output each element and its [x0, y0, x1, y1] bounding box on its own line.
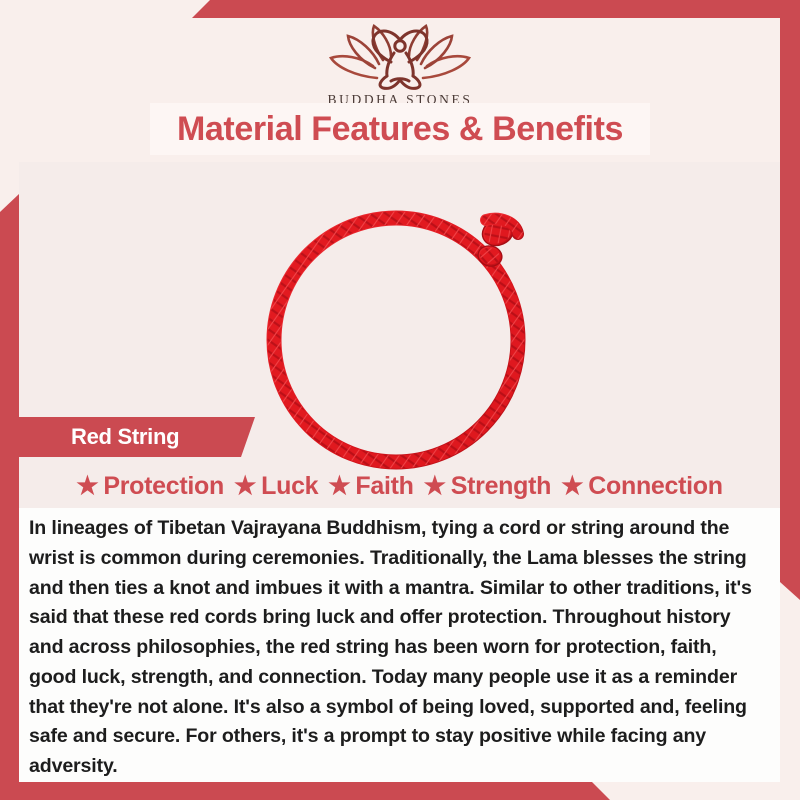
product-name: Red String	[71, 424, 179, 450]
star-icon: ★	[234, 474, 256, 499]
benefit-item-protection: ★ Protection	[76, 472, 224, 501]
star-icon: ★	[424, 474, 446, 499]
page-title: Material Features & Benefits	[177, 110, 623, 149]
benefit-label: Protection	[103, 472, 224, 501]
brand-header: BUDDHA STONES	[0, 18, 800, 108]
decor-bar-left	[0, 0, 19, 800]
product-name-banner: Red String	[19, 417, 255, 457]
lotus-meditation-icon	[311, 24, 489, 90]
benefit-label: Faith	[355, 472, 413, 501]
benefit-label: Luck	[261, 472, 318, 501]
benefit-item-strength: ★ Strength	[424, 472, 552, 501]
product-infographic-poster: BUDDHA STONES Material Features & Benefi…	[0, 0, 800, 800]
decor-bar-bottom	[0, 782, 800, 800]
benefit-label: Connection	[588, 472, 723, 501]
benefit-label: Strength	[451, 472, 551, 501]
benefit-item-luck: ★ Luck	[234, 472, 318, 501]
star-icon: ★	[328, 474, 350, 499]
benefits-row: ★ Protection ★ Luck ★ Faith ★ Strength ★…	[19, 466, 780, 506]
description-panel: In lineages of Tibetan Vajrayana Buddhis…	[19, 508, 780, 782]
description-text: In lineages of Tibetan Vajrayana Buddhis…	[29, 514, 758, 782]
benefit-item-faith: ★ Faith	[328, 472, 413, 501]
decor-bar-top	[0, 0, 800, 18]
red-string-bracelet-photo	[250, 190, 550, 480]
star-icon: ★	[76, 474, 98, 499]
benefit-item-connection: ★ Connection	[561, 472, 723, 501]
page-title-band: Material Features & Benefits	[150, 103, 650, 155]
star-icon: ★	[561, 474, 583, 499]
